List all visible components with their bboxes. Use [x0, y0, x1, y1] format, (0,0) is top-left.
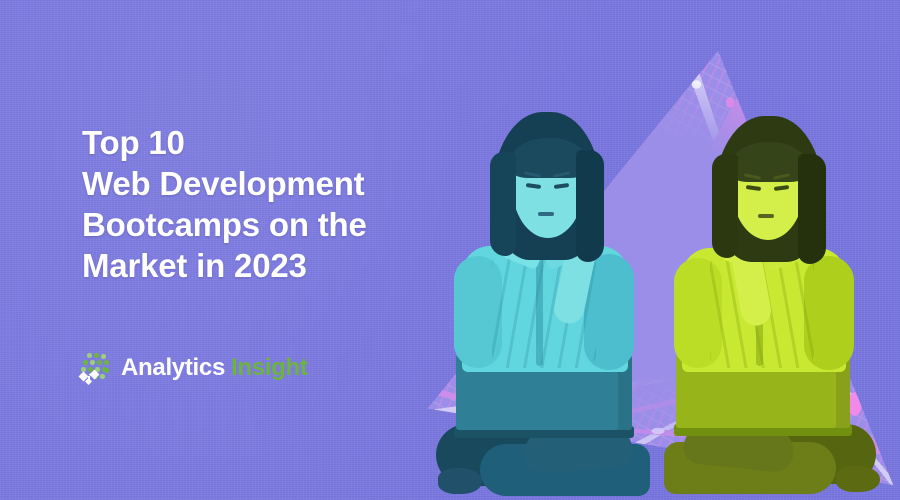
- headline-line-4: Market in 2023: [82, 245, 442, 286]
- headline-line-2: Web Development: [82, 163, 442, 204]
- analytics-insight-dot-grid-icon: [80, 352, 110, 384]
- headline-line-1: Top 10: [82, 122, 442, 163]
- right-figure-hair-strand-left: [712, 154, 738, 258]
- right-figure-mouth: [758, 214, 774, 218]
- right-figure-foot: [836, 466, 880, 492]
- figures-group: [418, 44, 898, 500]
- left-figure-foot: [438, 468, 482, 494]
- article-banner: Top 10 Web Development Bootcamps on the …: [0, 0, 900, 500]
- logo-wordmark: AnalyticsInsight: [121, 354, 308, 382]
- right-figure-yellow: [640, 108, 890, 500]
- logo-word-insight: Insight: [231, 354, 308, 381]
- headline-line-3: Bootcamps on the: [82, 204, 442, 245]
- left-figure-placket: [536, 254, 543, 366]
- left-figure-hair-strand-left: [490, 152, 516, 256]
- headline-block: Top 10 Web Development Bootcamps on the …: [82, 122, 442, 286]
- left-figure-mouth: [538, 212, 554, 216]
- logo-word-analytics: Analytics: [121, 354, 225, 381]
- analytics-insight-logo[interactable]: AnalyticsInsight: [80, 352, 308, 384]
- left-figure-hair-strand-right: [576, 150, 604, 262]
- right-figure-hair-strand-right: [798, 154, 826, 264]
